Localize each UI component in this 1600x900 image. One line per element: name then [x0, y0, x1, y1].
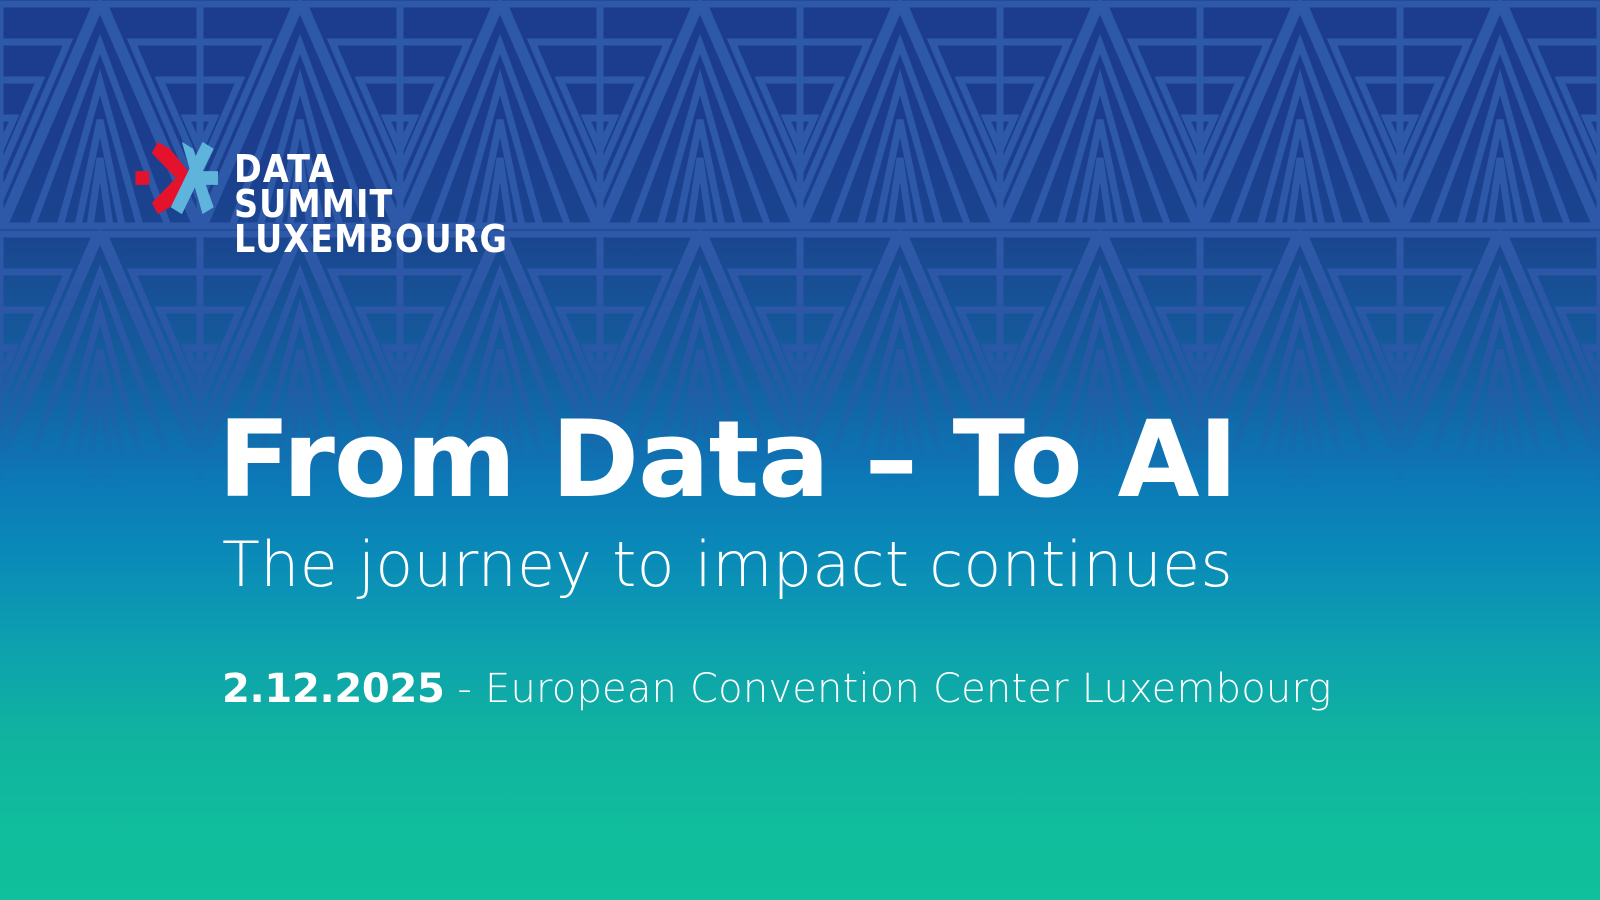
logo-lockup[interactable]: DATA SUMMIT LUXEMBOURG [132, 131, 545, 257]
event-banner: DATA SUMMIT LUXEMBOURG From Data – To AI… [0, 0, 1600, 900]
event-separator: - [445, 666, 485, 712]
logo-arm-icon [189, 171, 218, 185]
hero-subtitle: The journey to impact continues [222, 531, 1233, 599]
event-venue: European Convention Center Luxembourg [485, 666, 1332, 712]
event-date-venue: 2.12.2025 - European Convention Center L… [222, 666, 1332, 712]
event-date: 2.12.2025 [222, 666, 445, 712]
logo-wordmark: DATA SUMMIT LUXEMBOURG [234, 152, 508, 257]
hero-headline: From Data – To AI [218, 407, 1237, 513]
logo-wordmark-line-3: LUXEMBOURG [234, 222, 508, 257]
data-summit-chevron-x-mark [132, 135, 218, 221]
logo-dot-icon [135, 171, 149, 185]
